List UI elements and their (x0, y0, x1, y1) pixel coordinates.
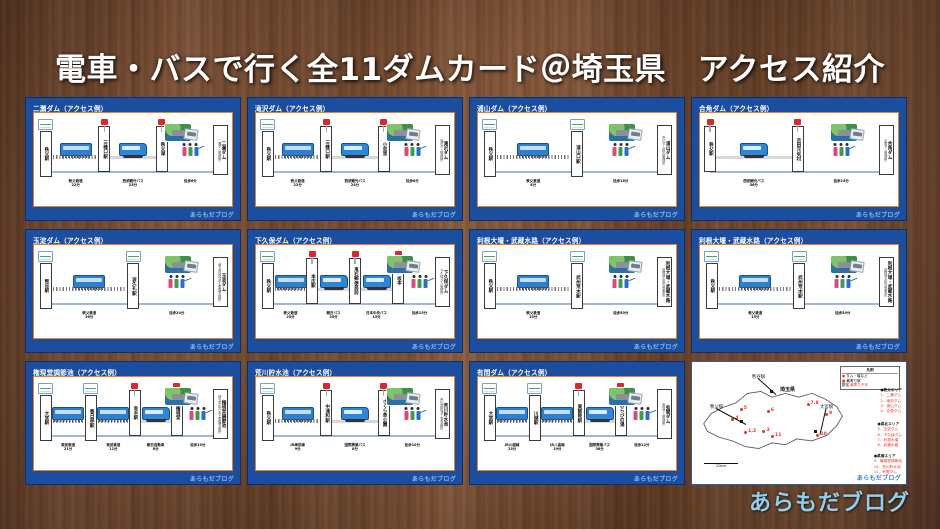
leg-label: 日本中央バス15分 (366, 311, 387, 319)
dam-access-card[interactable]: 利根大堰・武蔵水路（アクセス例）秩父駅秩父鉄道15分武州荒木駅徒歩50分利根大堰… (691, 229, 907, 353)
stop-box[interactable]: 秩父駅 (40, 131, 52, 177)
stop-name: 大宮駅 (43, 411, 48, 425)
leg-label: 国際興業バス8分 (344, 443, 365, 451)
dam-access-card[interactable]: 二瀬ダム（アクセス例）秩父駅秩父鉄道22分三峰口駅西武観光バス25分秩父湖徒歩6… (25, 97, 241, 221)
train-station-sign-icon (38, 383, 53, 394)
card-watermark: あらもだブログ (412, 474, 456, 483)
card-watermark: あらもだブログ (856, 342, 900, 351)
person-figure (612, 143, 617, 156)
route-stop[interactable]: 有間ダム有間ダム管理所 (657, 383, 672, 439)
leg-label: JR川越線23分 (505, 443, 520, 451)
walking-people-icon (168, 275, 185, 288)
card-body: 秩父駅秩父鉄道25分本庄駅朝日バス35分鬼石郵便局前日本中央バス15分坂本徒歩1… (255, 244, 455, 339)
stop-box[interactable]: 吉田元気村 (792, 126, 804, 172)
route-stop[interactable]: 利根大堰・武蔵水路利根導水総合事業所 (879, 251, 894, 307)
route-stop[interactable]: 玉淀ダム埼玉県熊谷県土整備事務所 (213, 251, 228, 307)
route-stop[interactable]: 吉田元気村 (792, 119, 804, 172)
route-leg-bus: 西武観光バス25分 (110, 119, 155, 145)
map-dam-dot[interactable] (807, 403, 810, 406)
route-stop[interactable]: 二瀬ダム二瀬ダム管理所 (213, 119, 228, 175)
stop-name: 鬼石郵便局前 (353, 267, 358, 295)
stop-name: 下久保ダム (442, 270, 447, 293)
destination-box[interactable]: 下久保ダム下久保ダム管理所 (435, 257, 450, 307)
card-body: 秩父駅秩父鉄道8分浦山口駅徒歩18分浦山ダム荒川ダム総合管理所 (477, 112, 677, 207)
brand-logo: あらもだブログ (749, 485, 910, 517)
bus-icon (119, 143, 147, 156)
train-icon (282, 143, 314, 156)
destination-box[interactable]: 権現堂調節池埼玉県杉戸県土整備事務所 (213, 389, 228, 439)
map-dam-label: 7,8 (811, 401, 819, 406)
dam-photo-cluster (386, 253, 420, 275)
bus-stop-sign-icon (794, 119, 801, 125)
route-leg-bus: 国際興業バス8分 (332, 383, 377, 409)
stop-box[interactable]: 大宮駅 (40, 395, 52, 441)
stop-box[interactable]: 春日部駅 (85, 395, 97, 441)
walking-people-icon (633, 407, 650, 420)
leg-label: 朝日自動車8分 (147, 443, 165, 451)
map-dam-label: 6 (771, 408, 774, 413)
route-stop[interactable]: 鬼石郵便局前 (349, 251, 361, 304)
bus-stop-sign-icon (101, 119, 108, 125)
legend-group-item: 1．二瀬ダム (880, 393, 902, 398)
walking-people-icon (612, 275, 629, 288)
card-body: 秩父駅JR埼京線9分中浦和駅国際興業バス8分さくら草公園徒歩10分荒川貯水池荒川… (255, 376, 455, 471)
stop-name: 二瀬ダム (220, 141, 225, 159)
train-icon (496, 407, 528, 420)
stop-box[interactable]: 浦山口駅 (571, 131, 583, 177)
stop-box[interactable]: 東飯能駅 (573, 390, 585, 436)
stop-name: 秩父駅 (265, 147, 270, 161)
dam-photo-cluster (164, 385, 198, 407)
map-legend-group: ●県北エリア5．玉淀ダム6．下久保ダム7．利根大堰8．武蔵水路 (878, 422, 902, 448)
route-stop[interactable]: 武州荒木駅 (792, 251, 807, 309)
route-leg-train: 秩父鉄道22分 (53, 119, 98, 145)
leg-label: 秩父鉄道22分 (69, 179, 83, 187)
leg-label: 秩父鉄道8分 (526, 179, 540, 187)
dam-card-icon (849, 128, 864, 141)
person-figure (404, 143, 409, 156)
dam-photo-cluster (608, 385, 642, 407)
destination-box[interactable]: 利根大堰・武蔵水路利根導水総合事業所 (657, 257, 672, 307)
dam-photo-cluster (830, 121, 864, 143)
route-stop[interactable]: 荒川貯水池荒川調節池工事事務所 (435, 383, 450, 439)
stop-name: 武州荒木駅 (575, 275, 580, 298)
route-diagram: 秩父駅秩父鉄道8分浦山口駅徒歩18分浦山ダム荒川ダム総合管理所 (482, 119, 672, 202)
stop-box[interactable]: 波久礼駅 (127, 263, 139, 309)
map-dam-dot[interactable] (740, 408, 743, 411)
person-figure (194, 143, 199, 156)
card-watermark: あらもだブログ (634, 342, 678, 351)
stop-box[interactable]: 幸手駅 (129, 390, 141, 436)
route-stop[interactable]: 秩父駅 (704, 119, 716, 172)
card-watermark: あらもだブログ (634, 474, 678, 483)
stop-box[interactable]: 秩父駅 (262, 395, 274, 441)
map-station-marker[interactable] (814, 430, 817, 433)
bus-stop-sign-icon (323, 383, 330, 389)
stop-name: 小双里 (381, 142, 386, 156)
map-dam-label: 1,2 (748, 429, 756, 434)
train-icon (60, 143, 92, 156)
stop-name: 秩父湖 (159, 142, 164, 156)
person-figure (189, 407, 194, 420)
leg-label: 徒歩15分 (834, 179, 849, 183)
route-leg-train: 秩父鉄道15分 (497, 251, 570, 277)
person-figure (624, 275, 629, 288)
train-icon (282, 407, 314, 420)
person-figure (195, 407, 200, 420)
bus-stop-sign-icon (575, 383, 582, 389)
train-icon (275, 275, 307, 288)
route-line (44, 171, 222, 173)
route-stop[interactable]: 秩父駅 (260, 119, 275, 177)
route-leg-train: 秩父鉄道8分 (497, 119, 570, 145)
stop-name: 玉淀ダム (220, 273, 225, 291)
route-stop[interactable]: 浦山ダム荒川ダム総合管理所 (657, 119, 672, 175)
route-stop[interactable]: 秩父駅 (260, 251, 275, 309)
train-station-sign-icon (482, 251, 497, 262)
dam-access-card[interactable]: 有間ダム（アクセス例）大宮駅JR川越線23分川越駅JR八高線29分東飯能駅国際興… (469, 361, 685, 485)
dam-card-icon (183, 128, 198, 141)
leg-label: 徒歩6分 (184, 179, 197, 183)
stop-name: 合角ダム (886, 141, 891, 159)
person-figure (168, 275, 173, 288)
card-watermark: あらもだブログ (412, 210, 456, 219)
card-body: 大宮駅JR川越線23分川越駅JR八高線29分東飯能駅国際興業バス38分さわらびの… (477, 376, 677, 471)
train-station-sign-icon (126, 251, 141, 262)
route-diagram: 秩父駅秩父鉄道22分三峰口駅西武観光バス25分秩父湖徒歩6分二瀬ダム二瀬ダム管理… (38, 119, 228, 202)
route-stop[interactable]: 本庄駅 (306, 251, 318, 304)
map-dam-label: 10 (820, 432, 826, 437)
walking-people-icon (189, 407, 206, 420)
route-stop[interactable]: 熊谷駅 (38, 251, 53, 309)
stop-box[interactable]: 武州荒木駅 (571, 263, 583, 309)
destination-box[interactable]: 二瀬ダム二瀬ダム管理所 (213, 125, 228, 175)
stop-box[interactable]: 中浦和駅 (320, 390, 332, 436)
route-stop[interactable]: 下久保ダム下久保ダム管理所 (435, 251, 450, 307)
train-station-sign-icon (83, 383, 98, 394)
route-leg-train: 秩父鉄道25分 (275, 251, 306, 277)
legend-note-left: 駅名 (842, 383, 849, 388)
dam-card-icon (405, 392, 420, 405)
stop-name: 大宮駅 (487, 411, 492, 425)
stop-box[interactable]: 川越駅 (529, 395, 541, 441)
leg-label: 西武観光バス25分 (122, 179, 143, 187)
route-leg-bus: 朝日バス35分 (318, 251, 349, 277)
stop-name: 有間ダム (664, 405, 669, 423)
stop-name: 利根大堰・武蔵水路 (886, 261, 891, 302)
destination-box[interactable]: 合角ダム合角ダム管理所 (879, 125, 894, 175)
route-stop[interactable]: 秩父駅 (260, 383, 275, 441)
card-watermark: あらもだブログ (190, 474, 234, 483)
map-legend-box: 凡例●ダム・堰など■最寄り駅駅名最寄り不可 (840, 366, 900, 390)
person-figure (624, 143, 629, 156)
map-watermark: あらもだブログ (857, 473, 901, 482)
leg-label: 朝日バス35分 (327, 311, 341, 319)
train-station-sign-icon (38, 119, 53, 130)
route-line (266, 435, 444, 437)
route-leg-bus: 西武観光バス56分 (716, 119, 792, 145)
route-stop[interactable]: 川越駅 (527, 383, 542, 441)
legend-group-item: 4．合角ダム (880, 409, 902, 414)
card-watermark: あらもだブログ (190, 342, 234, 351)
route-leg-train: JR八高線29分 (542, 383, 572, 409)
dam-photo-cluster (164, 253, 198, 275)
legend-note-right: 最寄り不可 (850, 383, 868, 388)
route-stop[interactable]: 波久礼駅 (126, 251, 141, 309)
map-station-label: 大宮駅 (820, 404, 833, 410)
train-station-sign-icon (38, 251, 53, 262)
dam-photo-cluster (164, 121, 198, 143)
map-dam-label: 3 (766, 428, 769, 433)
person-figure (639, 407, 644, 420)
person-figure (417, 275, 422, 288)
route-stop[interactable]: 秩父駅 (482, 119, 497, 177)
dam-access-card[interactable]: 玉淀ダム（アクセス例）熊谷駅秩父鉄道36分波久礼駅徒歩24分玉淀ダム埼玉県熊谷県… (25, 229, 241, 353)
bus-icon (341, 143, 369, 156)
bus-icon (363, 275, 391, 288)
stop-name: 波久礼駅 (131, 277, 136, 295)
dam-card-grid: 二瀬ダム（アクセス例）秩父駅秩父鉄道22分三峰口駅西武観光バス25分秩父湖徒歩6… (25, 97, 913, 483)
person-figure (612, 275, 617, 288)
card-watermark: あらもだブログ (856, 210, 900, 219)
destination-box[interactable]: 有間ダム有間ダム管理所 (657, 389, 672, 439)
person-figure (182, 143, 187, 156)
route-stop[interactable]: 大宮駅 (482, 383, 497, 441)
destination-box[interactable]: 浦山ダム荒川ダム総合管理所 (657, 125, 672, 175)
leg-label: 東武鉄道11分 (106, 443, 120, 451)
leg-label: 国際興業バス38分 (589, 443, 610, 451)
stop-box[interactable]: 秩父駅 (262, 131, 274, 177)
person-figure (174, 275, 179, 288)
page-title: 電車・バスで行く全11ダムカード＠埼玉県 アクセス紹介 (0, 44, 940, 89)
card-body: 秩父駅秩父鉄道15分武州荒木駅徒歩50分利根大堰・武蔵水路利根導水総合事業所 (699, 244, 899, 339)
person-figure (180, 275, 185, 288)
dam-card-icon (627, 260, 642, 273)
walking-people-icon (404, 143, 421, 156)
stop-name: 中浦和駅 (324, 404, 329, 422)
person-figure (645, 407, 650, 420)
dam-photo-cluster (608, 253, 642, 275)
route-leg-bus: 西武観光バス24分 (332, 119, 377, 145)
route-diagram: 大宮駅JR川越線23分川越駅JR八高線29分東飯能駅国際興業バス38分さわらびの… (482, 383, 672, 466)
leg-label: 秩父鉄道36分 (82, 311, 96, 319)
person-figure (416, 407, 421, 420)
route-stop[interactable]: 秩父駅 (38, 119, 53, 177)
person-figure (618, 275, 623, 288)
stop-box[interactable]: 秩父駅 (484, 263, 496, 309)
destination-box[interactable]: 荒川貯水池荒川調節池工事事務所 (435, 389, 450, 439)
destination-box[interactable]: 滝沢ダム滝沢ダム管理所 (435, 125, 450, 175)
leg-label: 秩父鉄道25分 (284, 311, 298, 319)
route-stop[interactable]: 幸手駅 (129, 383, 141, 436)
stop-box[interactable]: 武州荒木駅 (793, 263, 805, 309)
walking-people-icon (833, 143, 850, 156)
stop-name: 秩父駅 (487, 279, 492, 293)
scale-text: 20km (704, 464, 738, 468)
dam-access-card[interactable]: 滝沢ダム（アクセス例）秩父駅秩父鉄道22分三峰口駅西武観光バス24分小双里徒歩6… (247, 97, 463, 221)
dam-access-card[interactable]: 荒川貯水池（アクセス例）秩父駅JR埼京線9分中浦和駅国際興業バス8分さくら草公園… (247, 361, 463, 485)
route-stop[interactable]: 三峰口駅 (98, 119, 110, 172)
bus-stop-sign-icon (309, 251, 316, 257)
person-figure (839, 143, 844, 156)
stop-box[interactable]: 三峰口駅 (98, 126, 110, 172)
route-stop[interactable]: 大宮駅 (38, 383, 53, 441)
stop-name: 吉田元気村 (795, 138, 800, 161)
walking-people-icon (404, 407, 421, 420)
bus-icon (341, 407, 369, 420)
route-stop[interactable]: 合角ダム合角ダム管理所 (879, 119, 894, 175)
person-figure (423, 275, 428, 288)
leg-label: 東武鉄道21分 (61, 443, 75, 451)
dam-access-card[interactable]: 下久保ダム（アクセス例）秩父駅秩父鉄道25分本庄駅朝日バス35分鬼石郵便局前日本… (247, 229, 463, 353)
stop-name: 川越駅 (532, 411, 537, 425)
dam-photo-cluster (386, 385, 420, 407)
map-legend-group: ●県南エリア9．権現堂調節池10．荒川貯水池11．有間ダム (874, 454, 902, 475)
train-station-sign-icon (792, 251, 807, 262)
train-icon (517, 143, 549, 156)
dam-access-card[interactable]: 利根大堰・武蔵水路（アクセス例）秩父駅秩父鉄道15分武州荒木駅徒歩50分利根大堰… (469, 229, 685, 353)
dam-card-icon (405, 128, 420, 141)
stop-name: 秩父駅 (708, 142, 713, 156)
route-stop[interactable]: 春日部駅 (83, 383, 98, 441)
route-stop[interactable]: 三峰口駅 (320, 119, 332, 172)
bus-icon (142, 407, 170, 420)
route-line (266, 171, 444, 173)
destination-box[interactable]: 利根大堰・武蔵水路利根導水総合事業所 (879, 257, 894, 307)
train-icon (73, 275, 105, 288)
dam-access-card[interactable]: 合角ダム（アクセス例）秩父駅西武観光バス56分吉田元気村徒歩15分合角ダム合角ダ… (691, 97, 907, 221)
route-diagram: 秩父駅秩父鉄道15分武州荒木駅徒歩50分利根大堰・武蔵水路利根導水総合事業所 (482, 251, 672, 334)
person-figure (633, 407, 638, 420)
route-stop[interactable]: 浦山口駅 (570, 119, 585, 177)
route-diagram: 秩父駅西武観光バス56分吉田元気村徒歩15分合角ダム合角ダム管理所 (704, 119, 894, 202)
dam-access-card[interactable]: 浦山ダム（アクセス例）秩父駅秩父鉄道8分浦山口駅徒歩18分浦山ダム荒川ダム総合管… (469, 97, 685, 221)
person-figure (411, 275, 416, 288)
train-station-sign-icon (482, 119, 497, 130)
route-leg-train: 秩父鉄道22分 (275, 119, 320, 145)
train-icon (52, 407, 84, 420)
stop-name: 権現堂 (174, 406, 179, 420)
stop-name: 浦山口駅 (575, 145, 580, 163)
saitama-overview-map[interactable]: 埼玉県1,234567,891011秩父駅熊谷駅大宮駅凡例●ダム・堰など■最寄り… (691, 361, 907, 485)
card-watermark: あらもだブログ (190, 210, 234, 219)
route-diagram: 大宮駅東武鉄道21分春日部駅東武鉄道11分幸手駅朝日自動車8分権現堂徒歩10分権… (38, 383, 228, 466)
destination-box[interactable]: 玉淀ダム埼玉県熊谷県土整備事務所 (213, 257, 228, 307)
card-body: 秩父駅秩父鉄道15分武州荒木駅徒歩50分利根大堰・武蔵水路利根導水総合事業所 (477, 244, 677, 339)
stop-name: 秩父駅 (43, 147, 48, 161)
route-stop[interactable]: 秩父駅 (482, 251, 497, 309)
map-scale-bar: 20km (704, 463, 738, 469)
train-station-sign-icon (482, 383, 497, 394)
dam-card-icon (849, 260, 864, 273)
person-figure (416, 143, 421, 156)
dam-photo-cluster (830, 253, 864, 275)
train-icon (97, 407, 129, 420)
route-stop[interactable]: 中浦和駅 (320, 383, 332, 436)
bus-icon (740, 143, 768, 156)
dam-photo-cluster (608, 121, 642, 143)
stop-box[interactable]: 大宮駅 (484, 395, 496, 441)
legend-group-item: 8．武蔵水路 (878, 443, 902, 448)
person-figure (845, 143, 850, 156)
train-icon (541, 407, 573, 420)
route-leg-train: 東武鉄道11分 (98, 383, 128, 409)
route-leg-train: 東武鉄道21分 (53, 383, 83, 409)
leg-label: 徒歩50分 (835, 311, 850, 315)
stop-name: 熊谷駅 (43, 279, 48, 293)
dam-photo-cluster (386, 121, 420, 143)
train-icon (517, 275, 549, 288)
route-stop[interactable]: 滝沢ダム滝沢ダム管理所 (435, 119, 450, 175)
route-leg-train: 秩父鉄道15分 (719, 251, 792, 277)
bus-icon (586, 407, 614, 420)
dam-card-icon (627, 128, 642, 141)
stop-name: 東飯能駅 (576, 404, 581, 422)
dam-card-icon (627, 392, 642, 405)
stop-box[interactable]: 本庄駅 (306, 258, 318, 304)
card-body: 秩父駅西武観光バス56分吉田元気村徒歩15分合角ダム合角ダム管理所 (699, 112, 899, 207)
stop-box[interactable]: 鬼石郵便局前 (349, 258, 361, 304)
stop-box[interactable]: 熊谷駅 (40, 263, 52, 309)
route-leg-train: 秩父鉄道36分 (53, 251, 126, 277)
leg-label: 徒歩18分 (613, 179, 628, 183)
route-stop[interactable]: 権現堂調節池埼玉県杉戸県土整備事務所 (213, 383, 228, 439)
stop-name: 三峰口駅 (102, 140, 107, 158)
legend-group-item: 10．荒川貯水池 (874, 465, 902, 470)
route-diagram: 秩父駅秩父鉄道15分武州荒木駅徒歩50分利根大堰・武蔵水路利根導水総合事業所 (704, 251, 894, 334)
bus-stop-sign-icon (352, 251, 359, 257)
leg-label: 秩父鉄道15分 (526, 311, 540, 319)
route-stop[interactable]: 秩父駅 (704, 251, 719, 309)
stop-box[interactable]: 秩父駅 (706, 263, 718, 309)
stop-name: 坂本 (396, 276, 401, 285)
person-figure (833, 143, 838, 156)
stop-box[interactable]: 秩父駅 (262, 263, 274, 309)
leg-label: 徒歩15分 (412, 311, 427, 315)
dam-card-icon (405, 260, 420, 273)
stop-name: 秩父駅 (709, 279, 714, 293)
leg-label: 徒歩12分 (634, 443, 649, 447)
card-body: 秩父駅秩父鉄道22分三峰口駅西武観光バス25分秩父湖徒歩6分二瀬ダム二瀬ダム管理… (33, 112, 233, 207)
leg-label: 徒歩10分 (190, 443, 205, 447)
leg-label: 西武観光バス56分 (743, 179, 764, 187)
train-station-sign-icon (260, 119, 275, 130)
dam-access-card[interactable]: 権現堂調節池（アクセス例）大宮駅東武鉄道21分春日部駅東武鉄道11分幸手駅朝日自… (25, 361, 241, 485)
stop-name: 本庄駅 (310, 274, 315, 288)
stop-box[interactable]: 秩父駅 (484, 131, 496, 177)
map-legend-group: ●秩父エリア1．二瀬ダム2．滝沢ダム3．浦山ダム4．合角ダム (880, 388, 902, 414)
person-figure (834, 275, 839, 288)
train-station-sign-icon (260, 383, 275, 394)
stop-name: 三峰口駅 (324, 140, 329, 158)
route-stop[interactable]: 利根大堰・武蔵水路利根導水総合事業所 (657, 251, 672, 307)
stop-box[interactable]: 三峰口駅 (320, 126, 332, 172)
legend-group-item: 2．滝沢ダム (880, 399, 902, 404)
stop-name: 秩父駅 (487, 147, 492, 161)
route-stop[interactable]: 東飯能駅 (573, 383, 585, 436)
route-diagram: 秩父駅秩父鉄道25分本庄駅朝日バス35分鬼石郵便局前日本中央バス15分坂本徒歩1… (260, 251, 450, 334)
route-stop[interactable]: 武州荒木駅 (570, 251, 585, 309)
train-station-sign-icon (570, 119, 585, 130)
leg-label: 徒歩10分 (405, 443, 420, 447)
train-icon (739, 275, 771, 288)
leg-label: 徒歩24分 (169, 311, 184, 315)
stop-box[interactable]: 秩父駅 (704, 126, 716, 172)
card-watermark: あらもだブログ (412, 342, 456, 351)
stop-name: 武州荒木駅 (797, 275, 802, 298)
person-figure (410, 143, 415, 156)
leg-label: 徒歩50分 (613, 311, 628, 315)
